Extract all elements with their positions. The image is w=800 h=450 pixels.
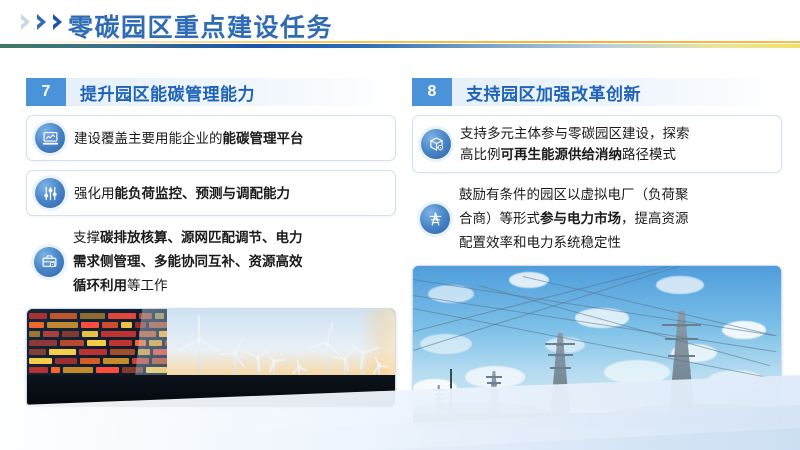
bullet-text-7-3: 支撑碳排放核算、源网匹配调节、电力需求侧管理、多能协同互补、资源高效循环利用等工… bbox=[73, 226, 303, 298]
bullet-card-8-2[interactable]: 鼓励有条件的园区以虚拟电厂（负荷聚合商）等形式参与电力市场，提高资源配置效率和电… bbox=[412, 183, 782, 255]
cube-gear-icon bbox=[421, 129, 451, 159]
section-7-number-badge: 7 bbox=[26, 78, 66, 106]
section-8-number-badge: 8 bbox=[412, 78, 452, 106]
section-7-column: 7 提升园区能碳管理能力 建设覆盖主要用能企业的能碳管理平台 bbox=[26, 78, 396, 408]
power-tower-icon bbox=[420, 204, 450, 234]
triple-chevron-right-icon bbox=[20, 13, 67, 31]
bullet-text-8-2: 鼓励有条件的园区以虚拟电厂（负荷聚合商）等形式参与电力市场，提高资源配置效率和电… bbox=[459, 183, 689, 255]
section-8-column: 8 支持园区加强改革创新 支持多元主体参与零碳园区建设，探索高比例可再生能源供给… bbox=[412, 78, 782, 429]
control-room-wind-farm-photo bbox=[26, 308, 396, 408]
bullet-text-8-1: 支持多元主体参与零碳园区建设，探索高比例可再生能源供给消纳路径模式 bbox=[460, 123, 690, 165]
bullet-card-8-1[interactable]: 支持多元主体参与零碳园区建设，探索高比例可再生能源供给消纳路径模式 bbox=[412, 115, 782, 173]
section-7-header: 7 提升园区能碳管理能力 bbox=[26, 78, 396, 106]
page-title: 零碳园区重点建设任务 bbox=[68, 8, 333, 44]
sliders-icon bbox=[35, 178, 65, 208]
toolbox-gear-icon bbox=[34, 247, 64, 277]
section-8-header: 8 支持园区加强改革创新 bbox=[412, 78, 782, 106]
section-7-title: 提升园区能碳管理能力 bbox=[66, 78, 396, 106]
bullet-card-7-1[interactable]: 建设覆盖主要用能企业的能碳管理平台 bbox=[26, 115, 396, 161]
header-rule-accent bbox=[0, 41, 800, 43]
bullet-text-7-2: 强化用能负荷监控、预测与调配能力 bbox=[74, 183, 290, 204]
header-rule bbox=[0, 44, 800, 48]
slide-canvas: 零碳园区重点建设任务 7 提升园区能碳管理能力 建设覆盖主要用能企业的能碳管理平… bbox=[0, 0, 800, 450]
bullet-text-7-1: 建设覆盖主要用能企业的能碳管理平台 bbox=[74, 128, 304, 149]
slide-header: 零碳园区重点建设任务 bbox=[0, 0, 800, 52]
section-8-title: 支持园区加强改革创新 bbox=[452, 78, 782, 106]
bullet-card-7-3[interactable]: 支撑碳排放核算、源网匹配调节、电力需求侧管理、多能协同互补、资源高效循环利用等工… bbox=[26, 226, 396, 298]
bullet-card-7-2[interactable]: 强化用能负荷监控、预测与调配能力 bbox=[26, 170, 396, 216]
monitor-chart-icon bbox=[35, 123, 65, 153]
transmission-towers-photo bbox=[412, 265, 782, 429]
